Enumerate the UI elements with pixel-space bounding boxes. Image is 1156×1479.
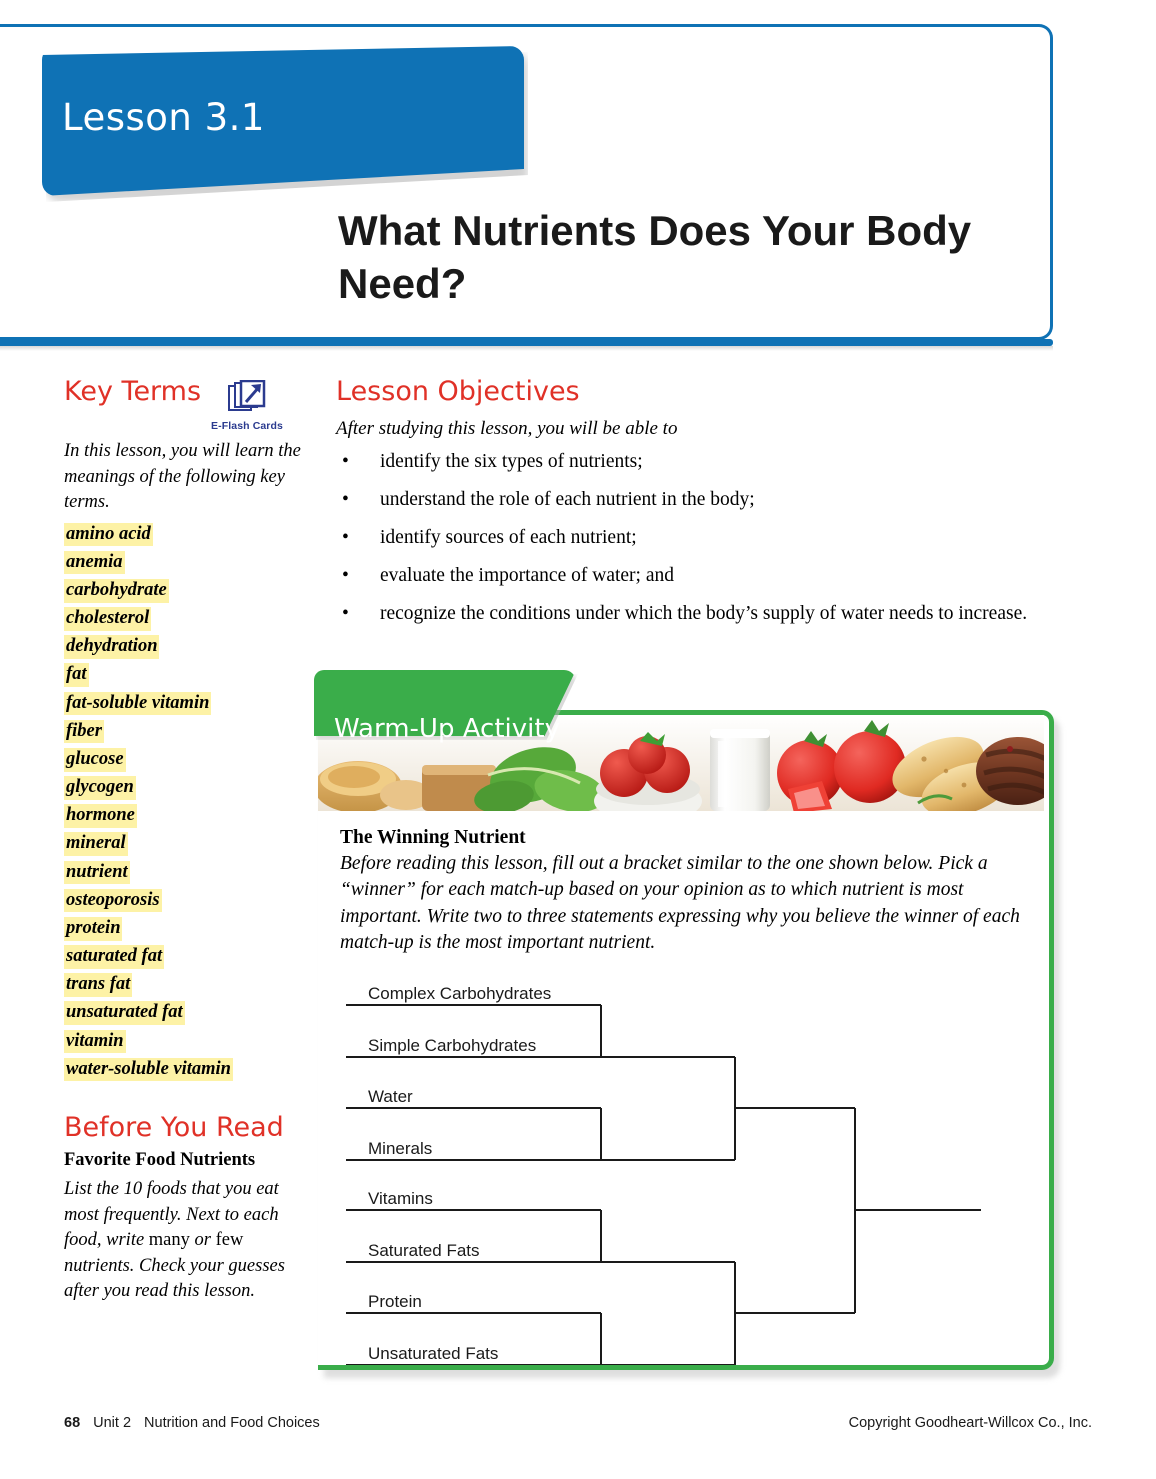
key-term: fiber <box>64 720 104 744</box>
bracket-entry-label: Simple Carbohydrates <box>368 1036 536 1055</box>
bracket-entry-label: Minerals <box>368 1139 432 1158</box>
byr-text-part3: nutrients. Check your guesses after you … <box>64 1256 285 1302</box>
key-term: cholesterol <box>64 607 151 631</box>
warm-up-body: The Winning Nutrient Before reading this… <box>340 827 1020 956</box>
lesson-tab-label: Lesson 3.1 <box>62 96 265 139</box>
warm-up-box: The Winning Nutrient Before reading this… <box>318 710 1054 1370</box>
objective-text: identify sources of each nutrient; <box>380 525 1036 551</box>
byr-emph-many: many <box>149 1230 190 1250</box>
objective-item: • identify the six types of nutrients; <box>336 449 1036 475</box>
key-term: fat <box>64 663 89 687</box>
key-terms-header: Key Terms E-Flash Cards <box>64 378 304 432</box>
key-term: vitamin <box>64 1030 126 1054</box>
key-term: amino acid <box>64 523 153 547</box>
page-number: 68 <box>64 1415 80 1431</box>
lesson-objectives-column: Lesson Objectives After studying this le… <box>336 378 1036 639</box>
bracket-entry-label: Vitamins <box>368 1189 433 1208</box>
before-you-read-body: List the 10 foods that you eat most freq… <box>64 1177 304 1305</box>
key-terms-list: amino acid anemia carbohydrate cholester… <box>64 521 304 1084</box>
key-term: anemia <box>64 551 125 575</box>
header-bottom-rule <box>0 339 1053 346</box>
left-sidebar-column: Key Terms E-Flash Cards In this lesson, … <box>64 378 304 1305</box>
bracket-entry-label: Unsaturated Fats <box>368 1344 498 1363</box>
before-you-read-subhead: Favorite Food Nutrients <box>64 1150 304 1171</box>
key-term: trans fat <box>64 973 132 997</box>
page-footer: 68 Unit 2 Nutrition and Food Choices Cop… <box>0 1415 1156 1445</box>
bullet-icon: • <box>336 601 380 627</box>
key-term: fat-soluble vitamin <box>64 692 211 716</box>
bullet-icon: • <box>336 563 380 589</box>
key-term: glycogen <box>64 776 136 800</box>
key-term: osteoporosis <box>64 889 162 913</box>
objective-item: • understand the role of each nutrient i… <box>336 487 1036 513</box>
lesson-objectives-intro: After studying this lesson, you will be … <box>336 418 1036 440</box>
lesson-objectives-heading: Lesson Objectives <box>336 378 1036 405</box>
key-term: glucose <box>64 748 126 772</box>
warm-up-tab-label: Warm-Up Activity <box>334 714 560 744</box>
footer-copyright: Copyright Goodheart-Willcox Co., Inc. <box>849 1415 1092 1431</box>
key-term: hormone <box>64 804 137 828</box>
before-you-read-heading: Before You Read <box>64 1114 304 1141</box>
objective-text: recognize the conditions under which the… <box>380 601 1036 627</box>
key-term: unsaturated fat <box>64 1001 185 1025</box>
bracket-entry-label: Water <box>368 1087 413 1106</box>
e-flash-cards-link[interactable]: E-Flash Cards <box>211 380 283 432</box>
objective-item: • identify sources of each nutrient; <box>336 525 1036 551</box>
warm-up-text: Before reading this lesson, fill out a b… <box>340 851 1020 956</box>
bullet-icon: • <box>336 487 380 513</box>
bullet-icon: • <box>336 525 380 551</box>
header-rule-shadow <box>0 346 1053 351</box>
tournament-bracket: Complex Carbohydrates Simple Carbohydrat… <box>318 977 1044 1365</box>
footer-unit-title: Nutrition and Food Choices <box>144 1415 320 1431</box>
key-term: water-soluble vitamin <box>64 1058 233 1082</box>
key-terms-intro: In this lesson, you will learn the meani… <box>64 439 304 516</box>
warm-up-title: The Winning Nutrient <box>340 827 1020 849</box>
key-term: protein <box>64 917 122 941</box>
byr-text-part2: or <box>190 1230 216 1250</box>
page-title: What Nutrients Does Your Body Need? <box>338 204 998 311</box>
bracket-entry-label: Saturated Fats <box>368 1241 480 1260</box>
key-term: mineral <box>64 832 128 856</box>
page-header: Lesson 3.1 What Nutrients Does Your Body… <box>0 0 1156 360</box>
warm-up-activity-panel: The Winning Nutrient Before reading this… <box>318 710 1054 1370</box>
flash-cards-icon <box>228 380 266 419</box>
objective-text: identify the six types of nutrients; <box>380 449 1036 475</box>
key-term: carbohydrate <box>64 579 169 603</box>
objective-text: understand the role of each nutrient in … <box>380 487 1036 513</box>
objective-text: evaluate the importance of water; and <box>380 563 1036 589</box>
footer-unit: Unit 2 <box>93 1415 131 1431</box>
key-term: saturated fat <box>64 945 164 969</box>
lesson-objectives-list: • identify the six types of nutrients; •… <box>336 449 1036 627</box>
bullet-icon: • <box>336 449 380 475</box>
key-term: nutrient <box>64 861 130 885</box>
bracket-entry-label: Complex Carbohydrates <box>368 984 551 1003</box>
objective-item: • evaluate the importance of water; and <box>336 563 1036 589</box>
footer-left: 68 Unit 2 Nutrition and Food Choices <box>64 1415 320 1431</box>
e-flash-cards-label: E-Flash Cards <box>211 420 283 432</box>
key-terms-heading: Key Terms <box>64 378 201 405</box>
key-term: dehydration <box>64 635 159 659</box>
objective-item: • recognize the conditions under which t… <box>336 601 1036 627</box>
byr-emph-few: few <box>216 1230 244 1250</box>
bracket-entry-label: Protein <box>368 1292 422 1311</box>
